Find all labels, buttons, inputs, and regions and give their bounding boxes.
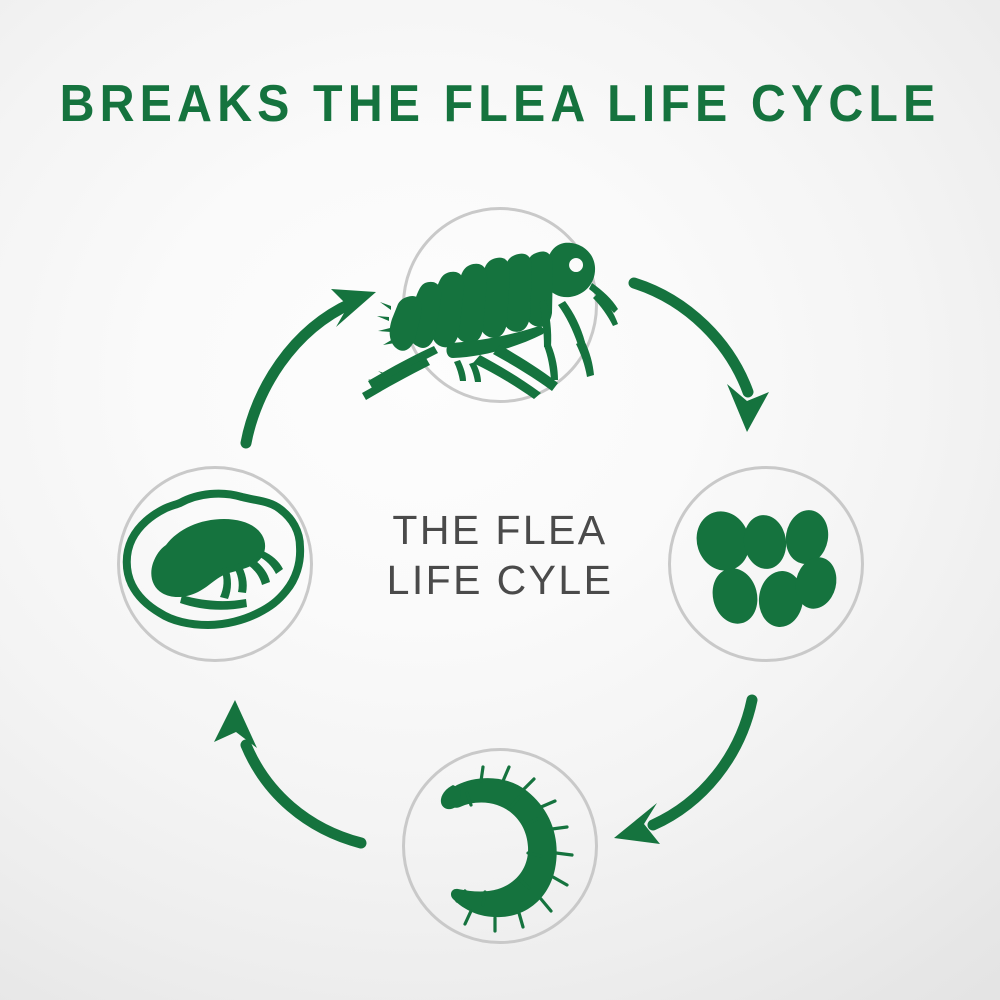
cycle-stage-adult[interactable] (402, 207, 598, 403)
arrow-adult-to-eggs (634, 283, 769, 432)
center-label-line-1: THE FLEA (300, 505, 700, 555)
flea-eggs-icon (691, 499, 841, 629)
arrow-larva-to-pupa (214, 700, 361, 843)
adult-flea-icon (360, 205, 640, 405)
arrow-pupa-to-adult (246, 289, 376, 443)
center-label: THE FLEA LIFE CYLE (300, 505, 700, 605)
infographic-canvas: BREAKS THE FLEA LIFE CYCLE (0, 0, 1000, 1000)
cycle-stage-pupa[interactable] (117, 466, 313, 662)
flea-larva-icon (415, 761, 585, 931)
cycle-stage-larva[interactable] (402, 748, 598, 944)
pupa-inner-flea (151, 519, 283, 610)
arrow-eggs-to-larva (614, 700, 752, 844)
flea-pupa-cocoon-icon (120, 489, 310, 639)
page-title: BREAKS THE FLEA LIFE CYCLE (35, 74, 965, 134)
center-label-line-2: LIFE CYLE (300, 555, 700, 605)
